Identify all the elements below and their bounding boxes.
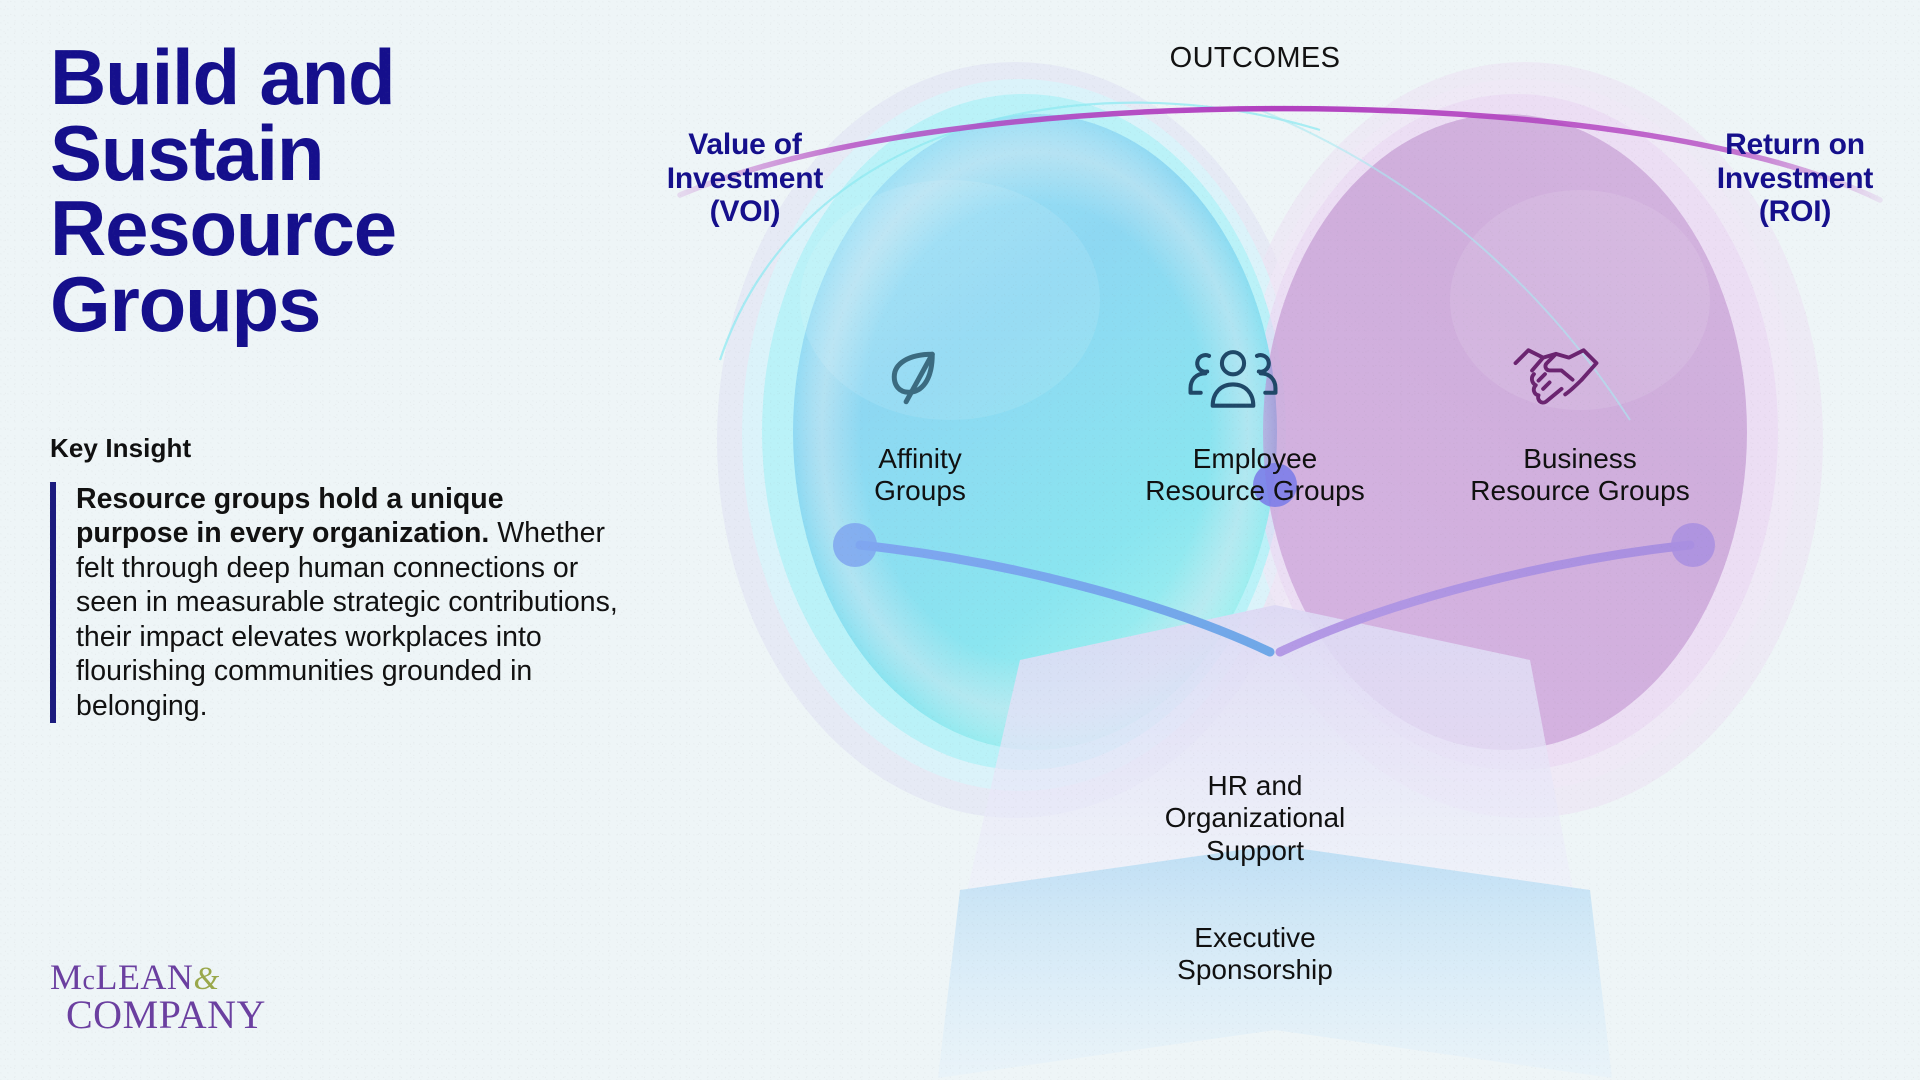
label-executive-sponsorship: Executive Sponsorship — [1110, 922, 1400, 987]
mclean-and-company-logo: McLEAN& COMPANY — [50, 960, 266, 1034]
label-value-of-investment: Value of Investment (VOI) — [640, 128, 850, 229]
key-insight-label: Key Insight — [50, 433, 670, 464]
label-hr-and-organizational-support: HR and Organizational Support — [1110, 770, 1400, 867]
people-group-icon-svg — [1185, 340, 1281, 416]
logo-line-1: McLEAN& — [50, 960, 266, 996]
page-title: Build and Sustain Resource Groups — [50, 40, 670, 343]
key-insight-lead: Resource groups hold a unique purpose in… — [76, 483, 504, 549]
handshake-icon-svg — [1510, 340, 1602, 412]
leaf-icon — [880, 340, 956, 421]
label-business-resource-groups: Business Resource Groups — [1430, 443, 1730, 508]
handshake-icon — [1510, 340, 1602, 417]
logo-m: M — [50, 957, 83, 997]
people-group-icon — [1185, 340, 1281, 421]
label-affinity-groups: Affinity Groups — [795, 443, 1045, 508]
logo-lean: LEAN — [95, 957, 193, 997]
logo-line-2: COMPANY — [66, 996, 266, 1034]
label-return-on-investment: Return on Investment (ROI) — [1690, 128, 1900, 229]
key-insight-paragraph: Resource groups hold a unique purpose in… — [76, 482, 620, 723]
left-panel: Build and Sustain Resource Groups Key In… — [50, 40, 670, 723]
leaf-icon-svg — [880, 340, 956, 416]
dot-left[interactable] — [833, 523, 877, 567]
key-insight-block: Resource groups hold a unique purpose in… — [50, 482, 620, 723]
dot-right[interactable] — [1671, 523, 1715, 567]
label-employee-resource-groups: Employee Resource Groups — [1105, 443, 1405, 508]
label-outcomes: OUTCOMES — [1105, 42, 1405, 75]
